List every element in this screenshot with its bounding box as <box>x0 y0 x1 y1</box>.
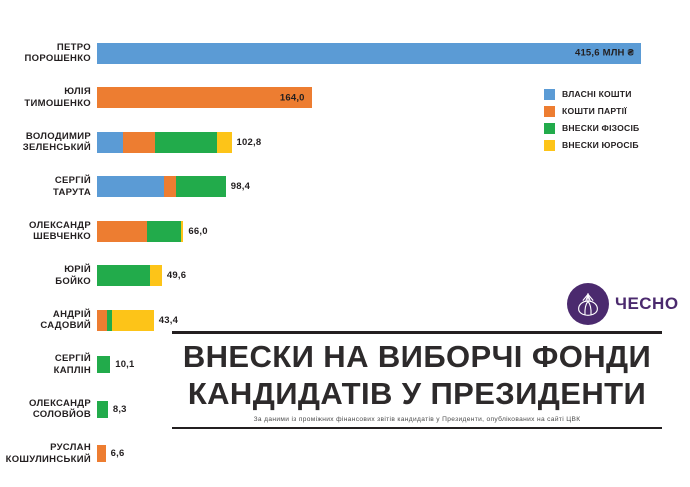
legend-swatch-person <box>544 123 555 134</box>
chart-legend: ВЛАСНІ КОШТИКОШТИ ПАРТІЇВНЕСКИ ФІЗОСІБВН… <box>544 86 690 154</box>
chart-row: СЕРГІЙ ТАРУТА98,4 <box>0 165 690 210</box>
bar-segment-party <box>164 176 176 197</box>
bar-segment-party <box>123 132 154 153</box>
legend-label: ВЛАСНІ КОШТИ <box>562 89 632 99</box>
candidate-name: СЕРГІЙ КАПЛІН <box>0 353 97 376</box>
title-line-1: ВНЕСКИ НА ВИБОРЧІ ФОНДИ <box>172 338 662 375</box>
bar-value-label: 102,8 <box>237 137 262 148</box>
title-line-2: КАНДИДАТІВ У ПРЕЗИДЕНТИ <box>172 375 662 412</box>
stacked-bar[interactable] <box>97 401 108 418</box>
chesno-logo: ЧЕСНО <box>567 283 679 325</box>
bar-area: 6,6 <box>97 432 690 477</box>
legend-label: ВНЕСКИ ЮРОСІБ <box>562 140 639 150</box>
legend-item-own[interactable]: ВЛАСНІ КОШТИ <box>544 86 690 102</box>
title-block: ВНЕСКИ НА ВИБОРЧІ ФОНДИ КАНДИДАТІВ У ПРЕ… <box>172 331 662 429</box>
bar-value-label: 43,4 <box>159 315 178 326</box>
stacked-bar[interactable] <box>97 356 110 373</box>
bar-segment-legal <box>112 310 154 331</box>
bar-value-label: 415,6 МЛН ₴ <box>575 48 634 59</box>
bar-value-label: 8,3 <box>113 404 127 415</box>
bar-segment-person <box>176 176 226 197</box>
bar-segment-person <box>147 221 181 242</box>
candidate-name: ПЕТРО ПОРОШЕНКО <box>0 42 97 65</box>
stacked-bar[interactable]: 415,6 МЛН ₴ <box>97 43 641 64</box>
legend-swatch-party <box>544 106 555 117</box>
stacked-bar[interactable] <box>97 132 232 153</box>
bar-value-label: 6,6 <box>111 448 125 459</box>
bar-segment-party <box>97 310 107 331</box>
bar-value-label: 66,0 <box>188 226 207 237</box>
stacked-bar[interactable]: 164,0 <box>97 87 312 108</box>
candidate-name: АНДРІЙ САДОВИЙ <box>0 309 97 332</box>
legend-swatch-legal <box>544 140 555 151</box>
stacked-bar[interactable] <box>97 221 183 242</box>
stacked-bar[interactable] <box>97 310 154 331</box>
bar-value-label: 164,0 <box>280 92 305 103</box>
bar-segment-person <box>97 401 108 418</box>
bar-area: 66,0 <box>97 209 690 254</box>
bar-segment-legal <box>150 265 162 286</box>
legend-swatch-own <box>544 89 555 100</box>
bar-area: 415,6 МЛН ₴ <box>97 31 690 76</box>
chart-row: ОЛЕКСАНДР ШЕВЧЕНКО66,0 <box>0 209 690 254</box>
bar-segment-party <box>97 445 106 462</box>
stacked-bar[interactable] <box>97 176 226 197</box>
candidate-name: ЮРІЙ БОЙКО <box>0 264 97 287</box>
bar-segment-person <box>97 265 150 286</box>
bar-segment-person <box>97 356 110 373</box>
chesno-logo-text: ЧЕСНО <box>615 294 679 314</box>
candidate-name: СЕРГІЙ ТАРУТА <box>0 175 97 198</box>
bar-segment-person <box>155 132 218 153</box>
legend-item-party[interactable]: КОШТИ ПАРТІЇ <box>544 103 690 119</box>
chart-row: РУСЛАН КОШУЛИНСЬКИЙ6,6 <box>0 432 690 477</box>
candidate-name: ОЛЕКСАНДР СОЛОВЙОВ <box>0 398 97 421</box>
infographic-poster: ПЕТРО ПОРОШЕНКО415,6 МЛН ₴ЮЛІЯ ТИМОШЕНКО… <box>0 0 690 487</box>
bar-area: 98,4 <box>97 165 690 210</box>
bar-segment-legal <box>181 221 183 242</box>
bar-segment-own <box>97 43 641 64</box>
stacked-bar[interactable] <box>97 445 106 462</box>
source-note: За даними із проміжних фінансових звітів… <box>172 413 662 427</box>
legend-label: ВНЕСКИ ФІЗОСІБ <box>562 123 639 133</box>
candidate-name: РУСЛАН КОШУЛИНСЬКИЙ <box>0 442 97 465</box>
candidate-name: ЮЛІЯ ТИМОШЕНКО <box>0 86 97 109</box>
garlic-bulb-icon <box>567 283 609 325</box>
bar-segment-own <box>97 132 123 153</box>
bar-segment-own <box>97 176 164 197</box>
legend-label: КОШТИ ПАРТІЇ <box>562 106 627 116</box>
legend-item-legal[interactable]: ВНЕСКИ ЮРОСІБ <box>544 137 690 153</box>
candidate-name: ОЛЕКСАНДР ШЕВЧЕНКО <box>0 220 97 243</box>
legend-item-person[interactable]: ВНЕСКИ ФІЗОСІБ <box>544 120 690 136</box>
candidate-name: ВОЛОДИМИР ЗЕЛЕНСЬКИЙ <box>0 131 97 154</box>
stacked-bar[interactable] <box>97 265 162 286</box>
bar-value-label: 10,1 <box>115 359 134 370</box>
bar-segment-party <box>97 221 147 242</box>
bar-value-label: 49,6 <box>167 270 186 281</box>
bar-value-label: 98,4 <box>231 181 250 192</box>
title-rule-bottom <box>172 427 662 429</box>
bar-segment-legal <box>217 132 231 153</box>
chart-row: ПЕТРО ПОРОШЕНКО415,6 МЛН ₴ <box>0 31 690 76</box>
